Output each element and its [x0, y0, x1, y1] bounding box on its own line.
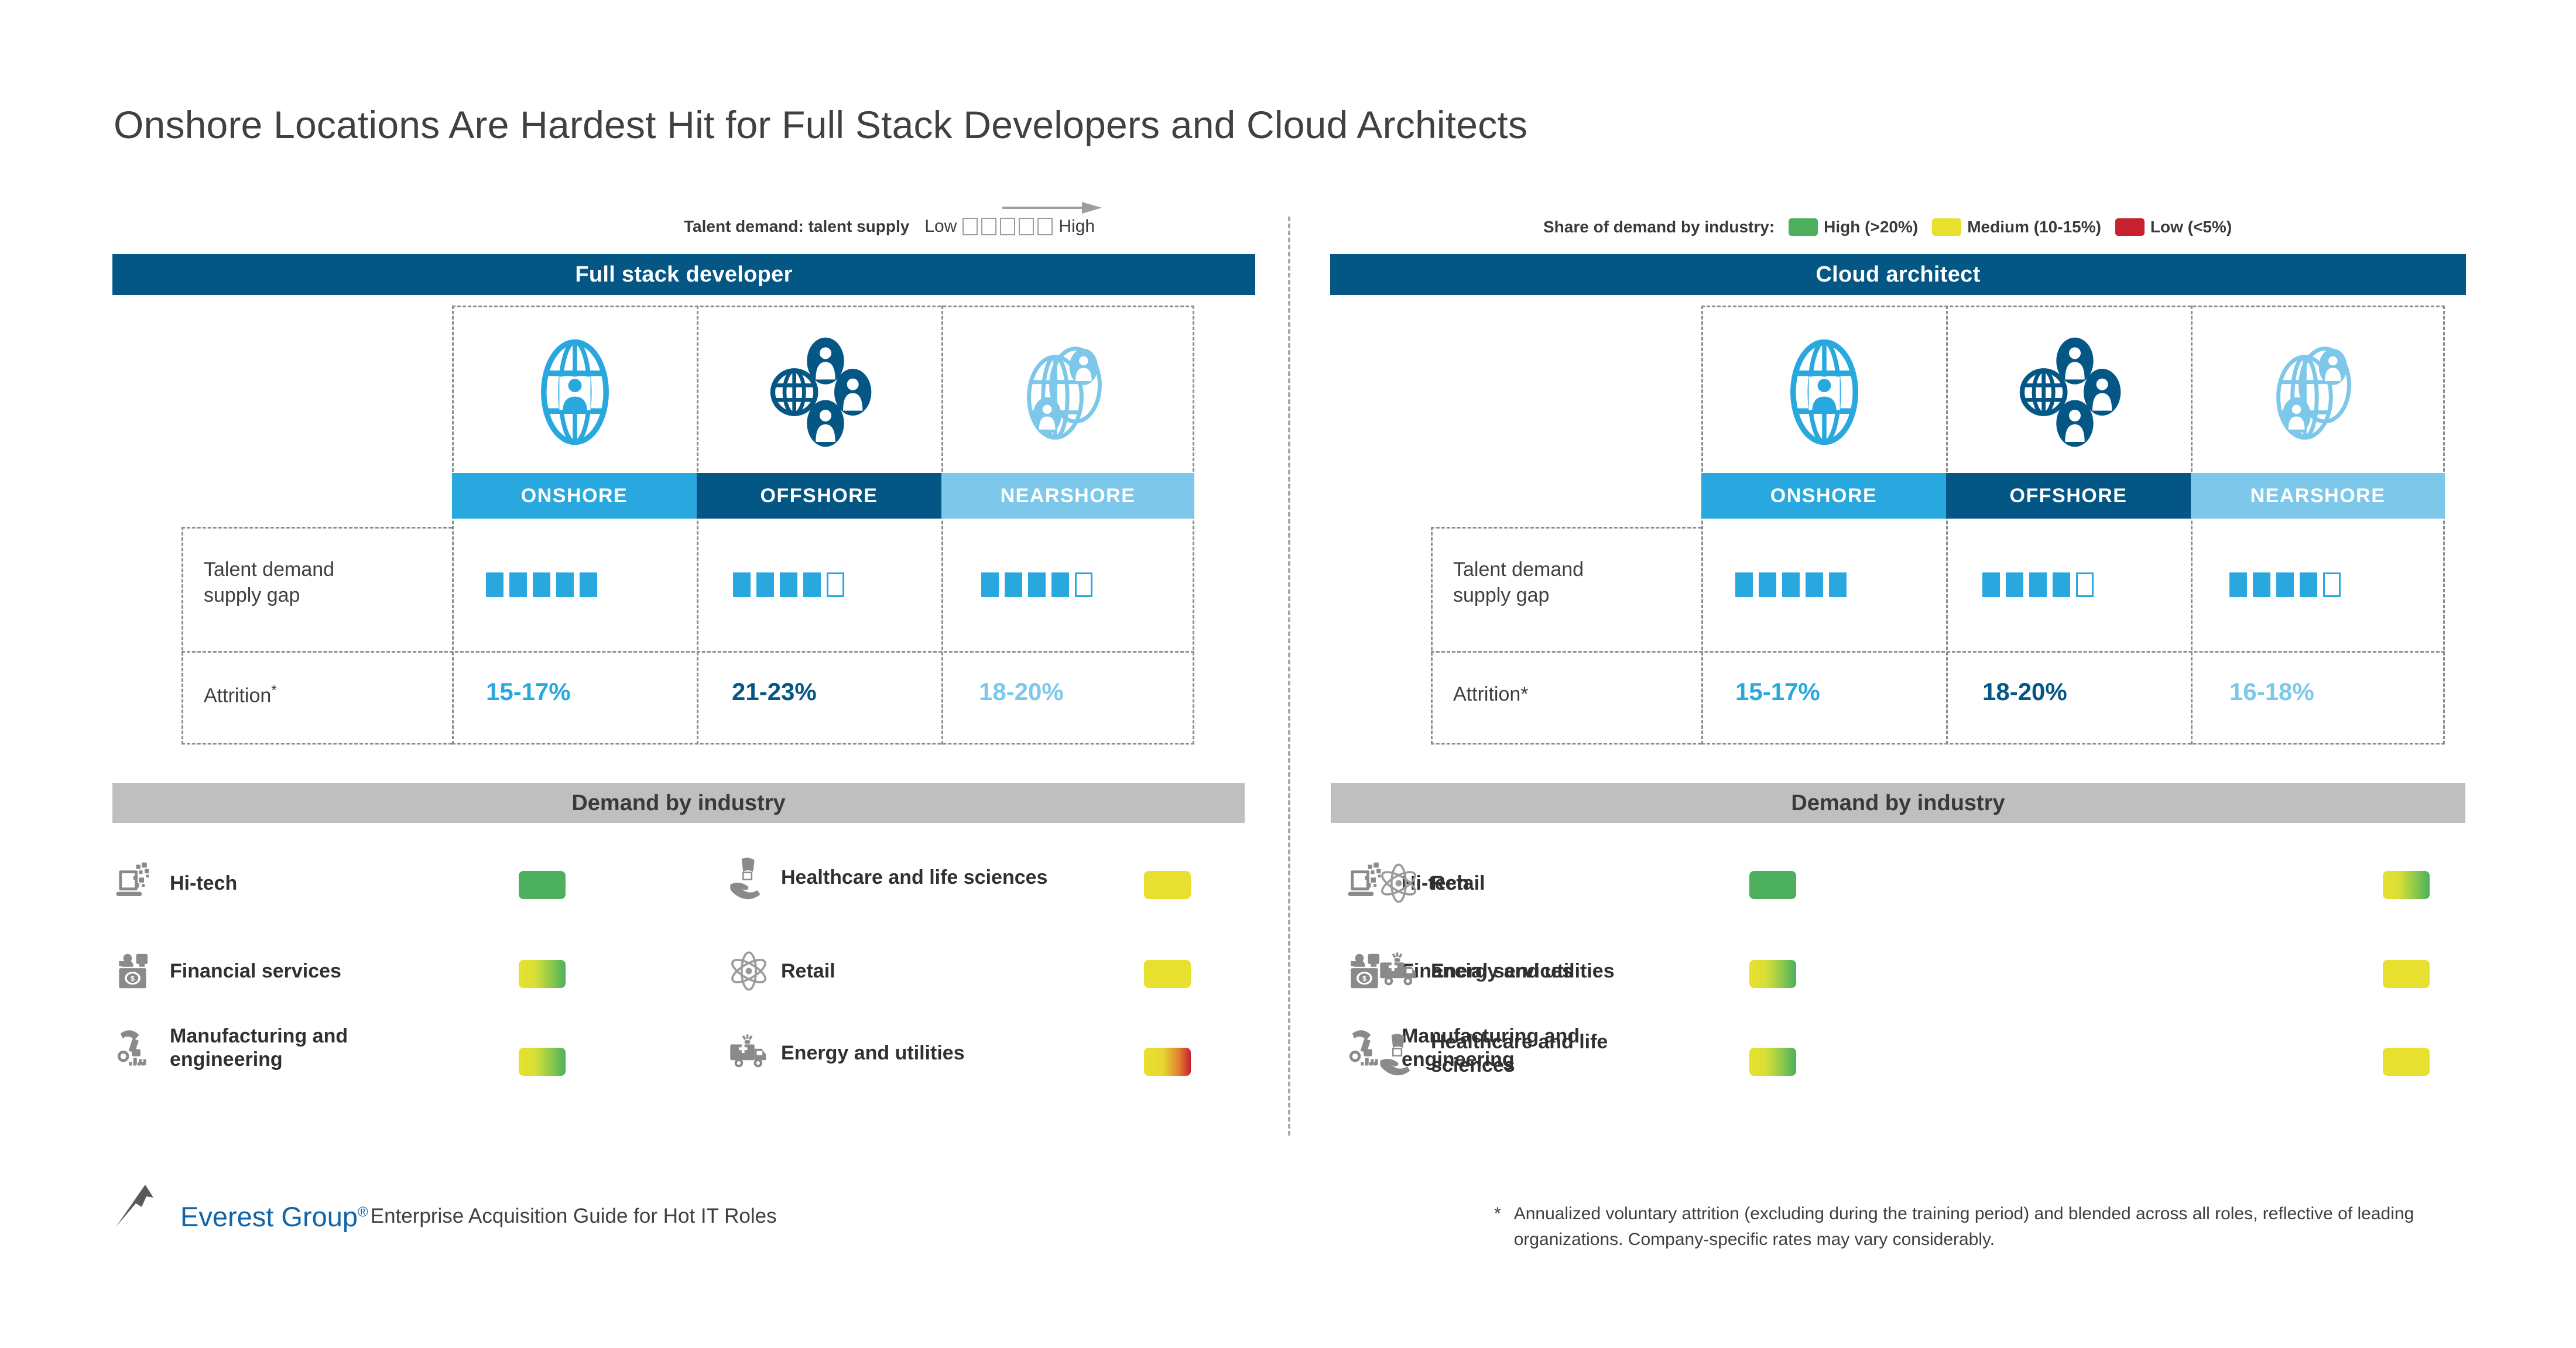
industry-label: Financial services [170, 959, 341, 983]
scale-box [1019, 218, 1034, 235]
icon-cell-offshore-left [707, 319, 932, 465]
industry-label: Retail [1431, 872, 1485, 895]
demand-by-industry-header-right: Demand by industry [1331, 783, 2465, 823]
legend-swatch-medium [1932, 218, 1961, 236]
talent-gap-legend-label: Talent demand: talent supply [684, 217, 909, 236]
panel-divider [1288, 217, 1290, 1136]
registered-mark: ® [358, 1204, 368, 1220]
industry-swatch-manufacturing-right [1749, 1048, 1796, 1076]
industry-row-healthcare-right: Healthcare and life sciences [1376, 1030, 1692, 1077]
legend-text-medium: Medium (10-15%) [1967, 218, 2101, 236]
industry-row-retail-left: Retail [726, 948, 1054, 994]
industry-label: Manufacturing and engineering [170, 1024, 454, 1071]
industry-swatch-manufacturing-left [519, 1048, 566, 1076]
gap-bar [580, 572, 597, 597]
industry-row-energy-left: Energy and utilities [726, 1030, 1077, 1076]
legend-text-low: Low (<5%) [2150, 218, 2232, 236]
location-tab-nearshore-left[interactable]: NEARSHORE [941, 473, 1194, 519]
scale-low-label: Low [924, 217, 957, 236]
scale-box [962, 218, 978, 235]
industry-swatch-retail-left [1144, 960, 1191, 988]
page-title: Onshore Locations Are Hardest Hit for Fu… [114, 102, 1527, 147]
industry-row-hi-tech-left: Hi-tech [115, 860, 443, 906]
talent-gap-legend: Talent demand: talent supply Low High [684, 217, 1095, 236]
footnote: * Annualized voluntary attrition (exclud… [1494, 1201, 2466, 1252]
svg-text:$: $ [131, 975, 135, 983]
gap-bars-offshore-left [733, 572, 844, 597]
attrition-value-offshore-left: 21-23% [732, 678, 817, 706]
industry-swatch-healthcare-right [2383, 1048, 2430, 1076]
industry-label: Hi-tech [170, 872, 237, 895]
scale-high-label: High [1059, 217, 1095, 236]
legend-item-low: Low (<5%) [2115, 218, 2232, 236]
gap-bar [803, 572, 821, 597]
gap-bar [509, 572, 527, 597]
atom-icon [726, 948, 772, 994]
gap-bars-nearshore-right [2229, 572, 2341, 597]
industry-share-legend: Share of demand by industry: High (>20%)… [1543, 218, 2232, 236]
location-tab-offshore-right[interactable]: OFFSHORE [1946, 473, 2191, 519]
icon-cell-onshore-left [463, 319, 687, 465]
gap-bar [1759, 572, 1776, 597]
gap-bar [1735, 572, 1753, 597]
industry-row-manufacturing-left: Manufacturing and engineering [115, 1024, 454, 1071]
legend-swatch-high [1789, 218, 1818, 236]
gap-bar [1051, 572, 1069, 597]
icon-cell-nearshore-right [2201, 319, 2426, 465]
industry-swatch-healthcare-left [1144, 871, 1191, 899]
panel-header-cloud-architect: Cloud architect [1330, 254, 2466, 295]
industry-row-healthcare-left: Healthcare and life sciences [726, 855, 1054, 900]
location-tab-nearshore-right[interactable]: NEARSHORE [2191, 473, 2445, 519]
icon-cell-offshore-right [1957, 319, 2181, 465]
globe-person-icon [1769, 337, 1880, 448]
globe-person-icon [519, 337, 631, 448]
matrix-vline-left-1 [697, 306, 698, 745]
industry-swatch-hi-tech-left [519, 871, 566, 899]
gap-bars-onshore-right [1735, 572, 1847, 597]
gap-bar [1829, 572, 1847, 597]
gap-bar [2006, 572, 2023, 597]
row-label-gap-right: Talent demand supply gap [1453, 557, 1584, 608]
industry-label: Healthcare and life sciences [1431, 1030, 1692, 1077]
gap-bar [486, 572, 503, 597]
hand-pill-icon [1376, 1031, 1421, 1076]
globes-people-icon [1009, 337, 1120, 448]
attrition-footnote-star: * [271, 682, 276, 698]
logo-brand-text: Everest Group® [180, 1203, 368, 1230]
scale-boxes [962, 218, 1053, 235]
industry-swatch-energy-left [1144, 1048, 1191, 1076]
icon-cell-onshore-right [1712, 319, 1937, 465]
industry-label: Energy and utilities [1431, 959, 1615, 983]
industry-label: Energy and utilities [781, 1041, 965, 1065]
gap-bar [2076, 572, 2094, 597]
legend-item-medium: Medium (10-15%) [1932, 218, 2101, 236]
attrition-value-onshore-right: 15-17% [1735, 678, 1820, 706]
logo-tagline: Enterprise Acquisition Guide for Hot IT … [371, 1205, 777, 1228]
gap-bar [1075, 572, 1092, 597]
gap-bar [533, 572, 550, 597]
industry-row-retail-right: Retail [1376, 860, 1680, 906]
scale-box [1000, 218, 1015, 235]
ambulance-icon [726, 1030, 772, 1076]
panel-header-full-stack-developer: Full stack developer [112, 254, 1255, 295]
gap-bars-onshore-left [486, 572, 597, 597]
gap-bar [1782, 572, 1800, 597]
location-tab-onshore-right[interactable]: ONSHORE [1701, 473, 1946, 519]
svg-text:$: $ [1362, 975, 1366, 983]
matrix-vline-right-1 [1946, 306, 1948, 745]
gap-bar [556, 572, 574, 597]
gap-bar [2053, 572, 2070, 597]
industry-swatch-energy-right [2383, 960, 2430, 988]
scale-box [981, 218, 996, 235]
row-label-attrition-left: Attrition* [204, 682, 277, 709]
gap-bar [2276, 572, 2294, 597]
footnote-text: Annualized voluntary attrition (excludin… [1514, 1201, 2466, 1252]
gap-bar [2300, 572, 2317, 597]
bank-teller-icon: $ [115, 948, 160, 994]
gap-bar [2229, 572, 2247, 597]
industry-label: Healthcare and life sciences [781, 866, 1047, 889]
gap-bar [756, 572, 774, 597]
gap-bars-offshore-right [1982, 572, 2094, 597]
industry-label: Retail [781, 959, 835, 983]
row-label-attrition-right: Attrition* [1453, 682, 1529, 708]
globes-people-icon [2258, 337, 2369, 448]
gap-bar [2029, 572, 2047, 597]
gap-bar [1806, 572, 1823, 597]
robot-arm-icon [115, 1025, 160, 1071]
location-tab-onshore-left[interactable]: ONSHORE [452, 473, 697, 519]
matrix-hline-left [181, 651, 1194, 653]
attrition-value-onshore-left: 15-17% [486, 678, 571, 706]
industry-swatch-financial-services-left [519, 960, 566, 988]
gap-bar [2253, 572, 2270, 597]
gap-bars-nearshore-left [981, 572, 1092, 597]
hand-pill-icon [726, 855, 772, 900]
matrix-vline-left-2 [941, 306, 943, 745]
legend-text-high: High (>20%) [1824, 218, 1918, 236]
gap-bar [981, 572, 999, 597]
scale-box [1037, 218, 1053, 235]
infographic-canvas: Onshore Locations Are Hardest Hit for Fu… [0, 0, 2576, 1348]
attrition-value-nearshore-right: 16-18% [2229, 678, 2314, 706]
attrition-value-offshore-right: 18-20% [1982, 678, 2067, 706]
ambulance-icon [1376, 948, 1421, 994]
footnote-marker: * [1494, 1201, 1501, 1252]
mountain-logo-icon [115, 1184, 179, 1228]
gap-bar [827, 572, 844, 597]
gap-bar [1982, 572, 2000, 597]
industry-row-financial-services-left: $ Financial services [115, 948, 443, 994]
atom-icon [1376, 860, 1421, 906]
gap-bar [733, 572, 751, 597]
gap-bar [1005, 572, 1022, 597]
icon-cell-nearshore-left [952, 319, 1177, 465]
scale-arrow-icon [1002, 201, 1102, 214]
laptop-data-icon [115, 860, 160, 906]
location-tab-offshore-left[interactable]: OFFSHORE [697, 473, 941, 519]
industry-row-energy-right: Energy and utilities [1376, 948, 1704, 994]
globe-people-icon [761, 334, 878, 451]
gap-bar [780, 572, 797, 597]
globe-people-icon [2010, 334, 2128, 451]
gap-bar [1028, 572, 1046, 597]
row-label-gap-left: Talent demand supply gap [204, 557, 334, 608]
attrition-value-nearshore-left: 18-20% [979, 678, 1064, 706]
matrix-vline-right-2 [2191, 306, 2193, 745]
legend-swatch-low [2115, 218, 2145, 236]
industry-legend-label: Share of demand by industry: [1543, 218, 1775, 236]
matrix-hline-right [1431, 651, 2445, 653]
everest-group-logo: Everest Group® Enterprise Acquisition Gu… [115, 1184, 777, 1228]
industry-swatch-financial-services-right [1749, 960, 1796, 988]
gap-bar [2323, 572, 2341, 597]
gap-scale: Low High [924, 217, 1095, 236]
legend-item-high: High (>20%) [1789, 218, 1918, 236]
industry-swatch-retail-right [2383, 871, 2430, 899]
demand-by-industry-header-left: Demand by industry [112, 783, 1245, 823]
industry-swatch-hi-tech-right [1749, 871, 1796, 899]
